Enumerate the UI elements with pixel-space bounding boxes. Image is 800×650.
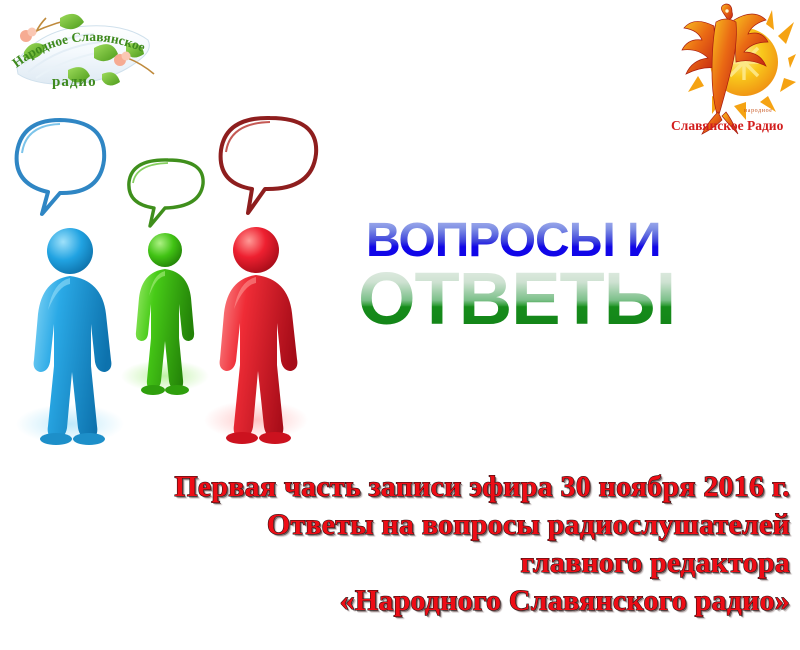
green-speech-bubble	[129, 160, 203, 226]
three-people-with-speech-bubbles	[8, 108, 344, 454]
firebird-sun-logo[interactable]: народное Славянское Радио	[668, 2, 796, 136]
voprosy-i-otvety-title: ВОПРОСЫ И ОТВЕТЫ	[352, 200, 752, 360]
red-person-glow	[204, 400, 308, 440]
poster-canvas: Народное Славянское радио	[0, 0, 800, 650]
logo-sub-text: радио	[52, 74, 97, 90]
caption-line-1: Первая часть записи эфира 30 ноября 2016…	[20, 468, 790, 506]
title-line-2: ОТВЕТЫ	[358, 257, 675, 340]
firebird-logo-small-text: народное	[744, 108, 773, 114]
green-person-glow	[121, 360, 209, 392]
caption-line-2: Ответы на вопросы радиослушателей	[20, 506, 790, 544]
firebird-eye-shape	[725, 9, 728, 12]
broadcast-caption: Первая часть записи эфира 30 ноября 2016…	[20, 468, 790, 620]
blue-speech-bubble	[17, 120, 105, 214]
firebird-logo-main-text: Славянское Радио	[671, 118, 784, 133]
narodnoe-slavyanskoe-radio-logo[interactable]: Народное Славянское радио	[2, 4, 162, 96]
red-speech-bubble	[221, 118, 317, 213]
caption-line-3: главного редактора	[20, 544, 790, 582]
caption-line-4: «Народного Славянского радио»	[20, 582, 790, 620]
